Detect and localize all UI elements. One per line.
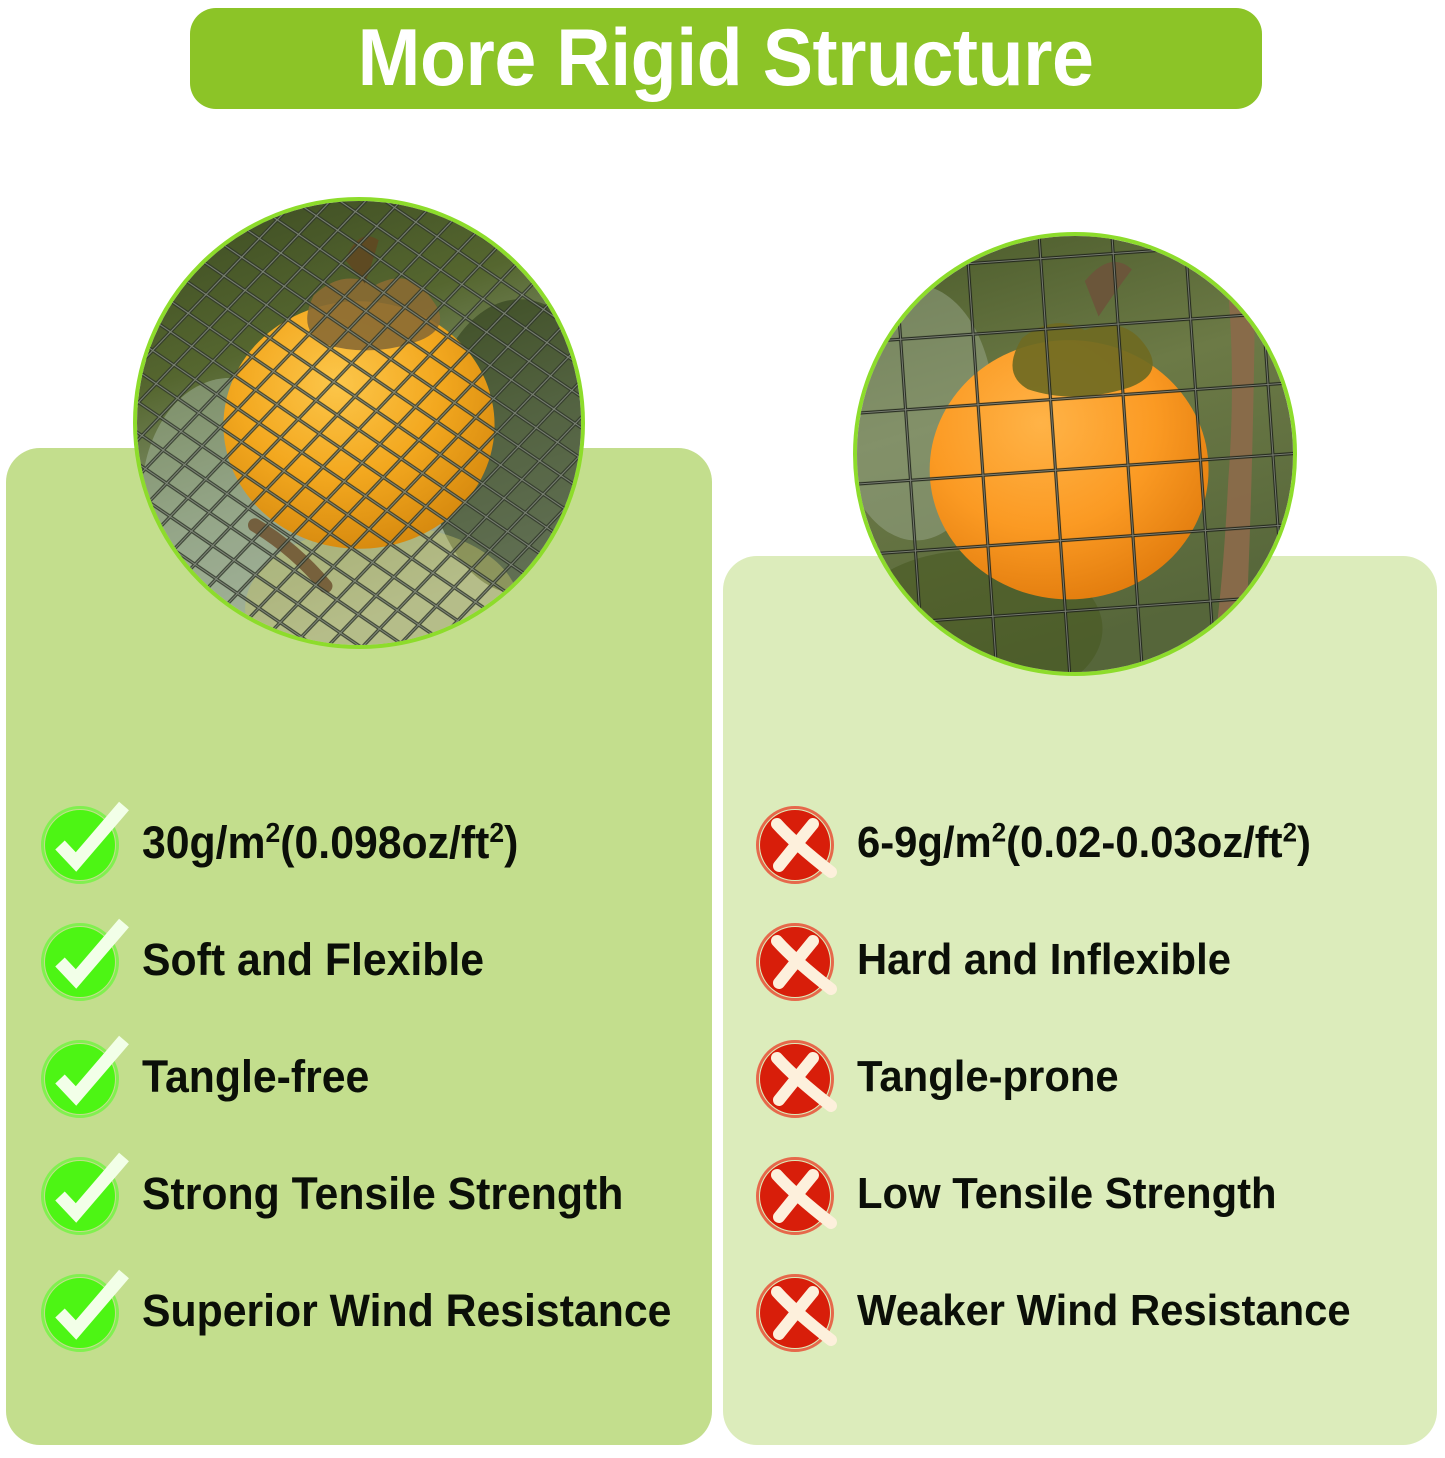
list-item-label: Low Tensile Strength bbox=[857, 1172, 1277, 1216]
feature-list-bad: 6-9g/m2(0.02-0.03oz/ft2) Hard and Inflex… bbox=[757, 784, 1437, 1369]
list-item-label: Hard and Inflexible bbox=[857, 938, 1231, 982]
x-circle-icon bbox=[757, 921, 835, 999]
list-item: Superior Wind Resistance bbox=[42, 1252, 702, 1369]
list-item: Hard and Inflexible bbox=[757, 901, 1437, 1018]
list-item-label: Strong Tensile Strength bbox=[142, 1171, 623, 1216]
list-item-label: Tangle-prone bbox=[857, 1055, 1119, 1099]
page-title: More Rigid Structure bbox=[358, 18, 1094, 99]
x-circle-icon bbox=[757, 1272, 835, 1350]
list-item: Soft and Flexible bbox=[42, 901, 702, 1018]
check-circle-icon bbox=[42, 1155, 120, 1233]
product-photo-coarse-mesh bbox=[853, 232, 1297, 676]
list-item: Low Tensile Strength bbox=[757, 1135, 1437, 1252]
check-circle-icon bbox=[42, 1272, 120, 1350]
check-circle-icon bbox=[42, 921, 120, 999]
list-item-label: Soft and Flexible bbox=[142, 937, 484, 982]
x-circle-icon bbox=[757, 1155, 835, 1233]
product-photo-fine-mesh bbox=[133, 197, 585, 649]
list-item: Tangle-free bbox=[42, 1018, 702, 1135]
list-item-label: 6-9g/m2(0.02-0.03oz/ft2) bbox=[857, 821, 1311, 865]
x-circle-icon bbox=[757, 804, 835, 882]
list-item-label: Weaker Wind Resistance bbox=[857, 1289, 1351, 1333]
coarse-mesh-photo-art bbox=[857, 236, 1293, 672]
check-circle-icon bbox=[42, 1038, 120, 1116]
list-item-label: Tangle-free bbox=[142, 1054, 369, 1099]
list-item: 30g/m2(0.098oz/ft2) bbox=[42, 784, 702, 901]
feature-list-good: 30g/m2(0.098oz/ft2) Soft and Flexible Ta… bbox=[42, 784, 702, 1369]
x-circle-icon bbox=[757, 1038, 835, 1116]
list-item: 6-9g/m2(0.02-0.03oz/ft2) bbox=[757, 784, 1437, 901]
title-banner: More Rigid Structure bbox=[190, 8, 1262, 109]
list-item: Strong Tensile Strength bbox=[42, 1135, 702, 1252]
fine-mesh-photo-art bbox=[137, 201, 581, 645]
check-circle-icon bbox=[42, 804, 120, 882]
list-item-label: 30g/m2(0.098oz/ft2) bbox=[142, 820, 518, 865]
list-item-label: Superior Wind Resistance bbox=[142, 1288, 671, 1333]
list-item: Weaker Wind Resistance bbox=[757, 1252, 1437, 1369]
list-item: Tangle-prone bbox=[757, 1018, 1437, 1135]
